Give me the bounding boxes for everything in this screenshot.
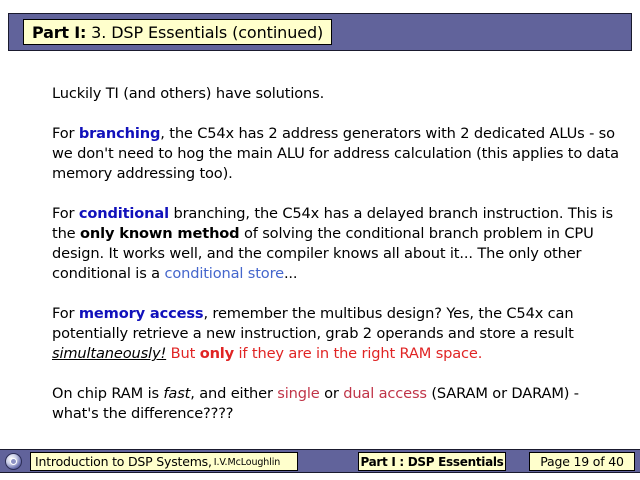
text-run-7: only	[200, 345, 234, 362]
text-run-2: conditional	[79, 205, 169, 222]
text-run-4: simultaneously!	[52, 345, 166, 362]
text-run-7: ...	[284, 265, 297, 282]
text-run-6: dual access	[343, 385, 427, 402]
slide-title-prefix: Part I:	[32, 23, 86, 42]
slide-footer-bar: Introduction to DSP Systems, I.V.McLough…	[0, 449, 640, 473]
text-run-8: if they are in the right RAM space.	[234, 345, 482, 362]
footer-section-chip: Part I : DSP Essentials	[358, 452, 506, 471]
text-run-1: For	[52, 125, 79, 142]
paragraph-2: For branching, the C54x has 2 address ge…	[52, 124, 628, 184]
paragraph-1: Luckily TI (and others) have solutions.	[52, 84, 628, 104]
text-run-3: , and either	[190, 385, 277, 402]
slide-header-banner: Part I: 3. DSP Essentials (continued)	[8, 13, 632, 51]
footer-page-number: Page 19 of 40	[529, 452, 635, 471]
slide-title-box: Part I: 3. DSP Essentials (continued)	[23, 19, 332, 45]
page-title: 3. DSP Essentials (continued)	[91, 23, 323, 42]
text-run-1: Luckily TI (and others) have solutions.	[52, 85, 324, 102]
globe-logo-icon	[5, 453, 22, 470]
paragraph-4: For memory access, remember the multibus…	[52, 304, 628, 364]
text-run-6: But	[171, 345, 200, 362]
paragraph-3: For conditional branching, the C54x has …	[52, 204, 628, 284]
slide-body: Luckily TI (and others) have solutions. …	[52, 84, 628, 424]
text-run-1: For	[52, 205, 79, 222]
text-run-1: For	[52, 305, 79, 322]
footer-course-title-chip: Introduction to DSP Systems, I.V.McLough…	[30, 452, 298, 471]
footer-author: I.V.McLoughlin	[214, 457, 280, 468]
text-run-1: On chip RAM is	[52, 385, 163, 402]
text-run-2: memory access	[79, 305, 204, 322]
footer-course-title: Introduction to DSP Systems,	[35, 454, 212, 469]
text-run-4: single	[277, 385, 319, 402]
text-run-2: fast	[163, 385, 190, 402]
text-run-6: conditional store	[164, 265, 283, 282]
text-run-5: or	[320, 385, 344, 402]
paragraph-5: On chip RAM is fast, and either single o…	[52, 384, 628, 424]
text-run-2: branching	[79, 125, 160, 142]
text-run-4: only known method	[80, 225, 239, 242]
